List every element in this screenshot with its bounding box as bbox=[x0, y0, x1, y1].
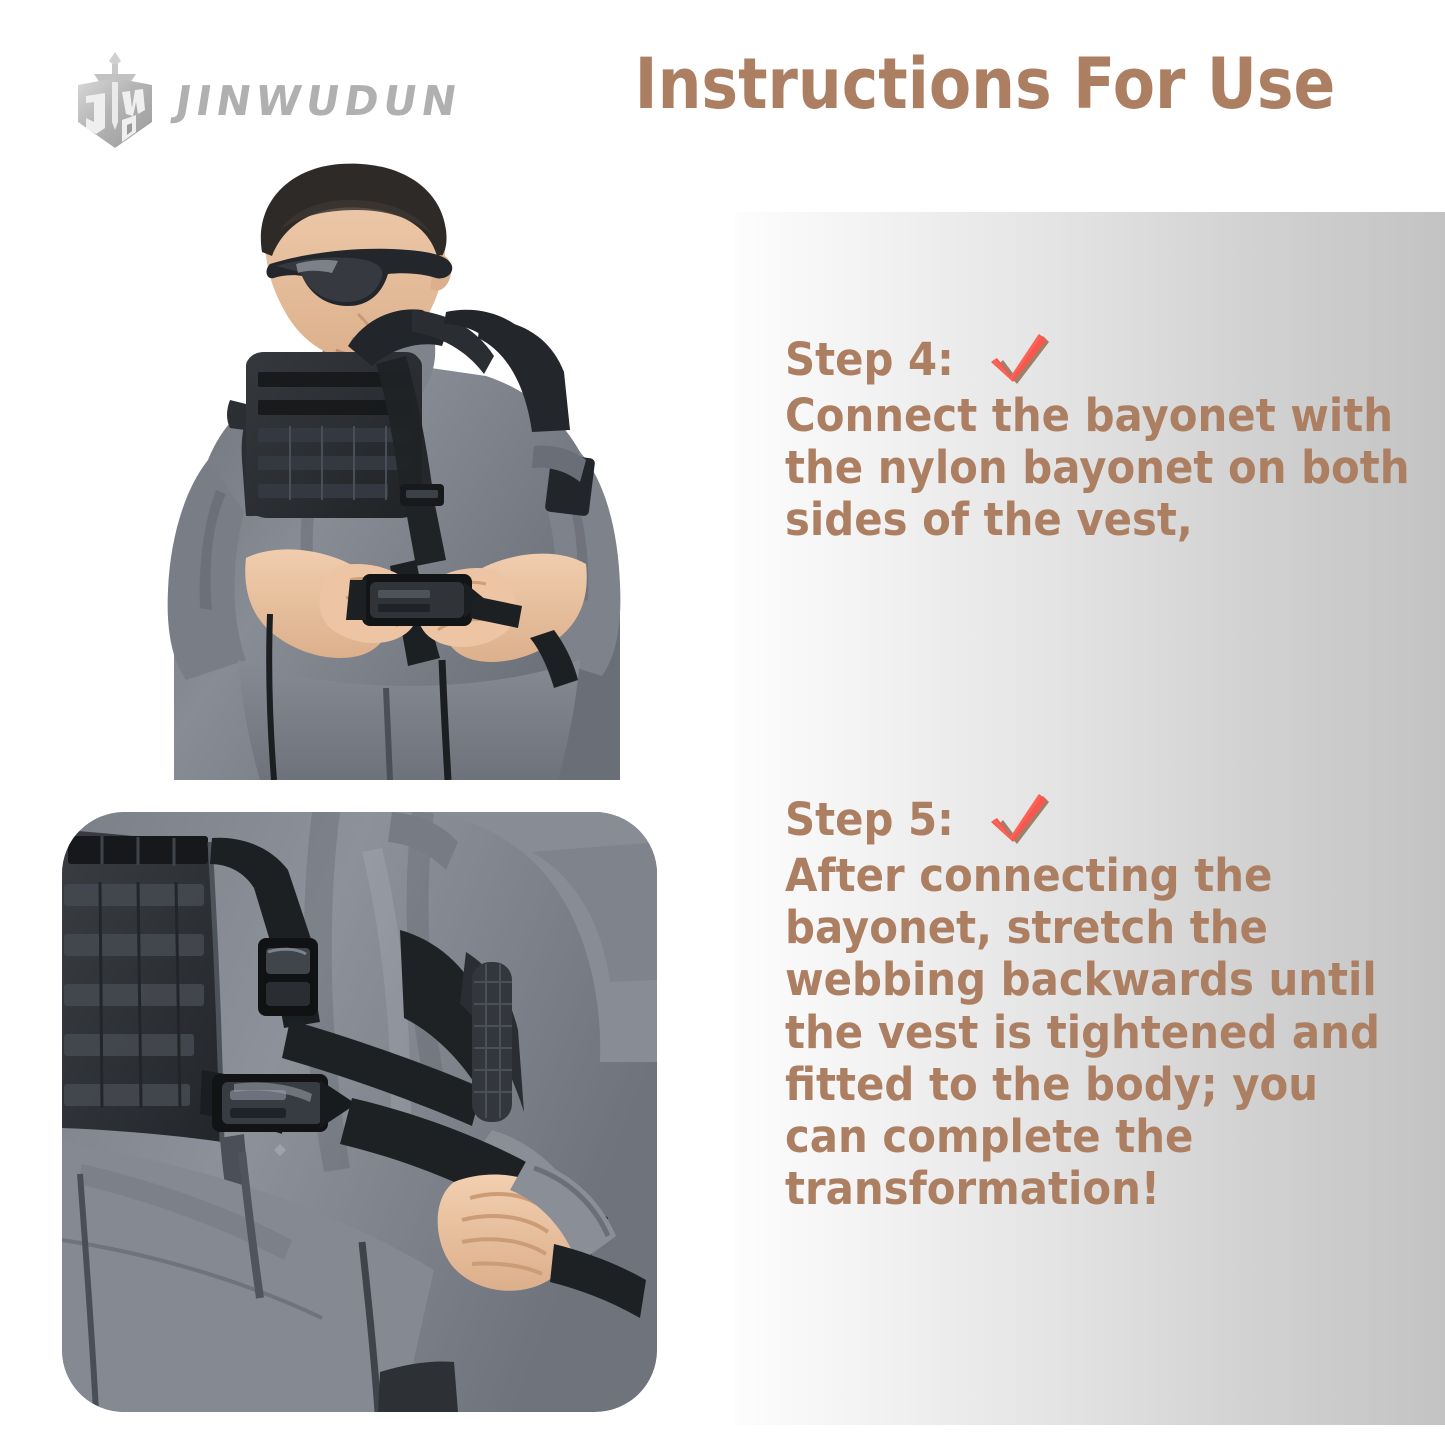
steps-panel: Step 4: Connect the bayonet with the nyl… bbox=[735, 212, 1445, 1425]
step-4-header: Step 4: bbox=[785, 330, 1410, 388]
step-4-text: Connect the bayonet with the nylon bayon… bbox=[785, 390, 1410, 547]
instruction-page: JINWUDUN Instructions For Use bbox=[0, 0, 1445, 1445]
shield-sword-jwd-emblem-icon bbox=[72, 52, 158, 150]
brand-logo: JINWUDUN bbox=[72, 52, 461, 150]
brand-name-text: JINWUDUN bbox=[173, 81, 464, 122]
step-block-5: Step 5: After connecting the bayonet, st… bbox=[785, 790, 1410, 1215]
step-5-label: Step 5: bbox=[785, 797, 954, 842]
photo-step5-stretch-webbing bbox=[62, 812, 657, 1412]
step-5-text: After connecting the bayonet, stretch th… bbox=[785, 850, 1410, 1215]
red-checkmark-icon bbox=[983, 334, 1051, 384]
step-5-header: Step 5: bbox=[785, 790, 1410, 848]
step-block-4: Step 4: Connect the bayonet with the nyl… bbox=[785, 330, 1410, 547]
page-title: Instructions For Use bbox=[624, 48, 1346, 122]
page-header: JINWUDUN Instructions For Use bbox=[0, 0, 1445, 180]
step-4-label: Step 4: bbox=[785, 337, 954, 382]
photo-step4-connect-buckle bbox=[150, 160, 675, 780]
red-checkmark-icon bbox=[983, 794, 1051, 844]
